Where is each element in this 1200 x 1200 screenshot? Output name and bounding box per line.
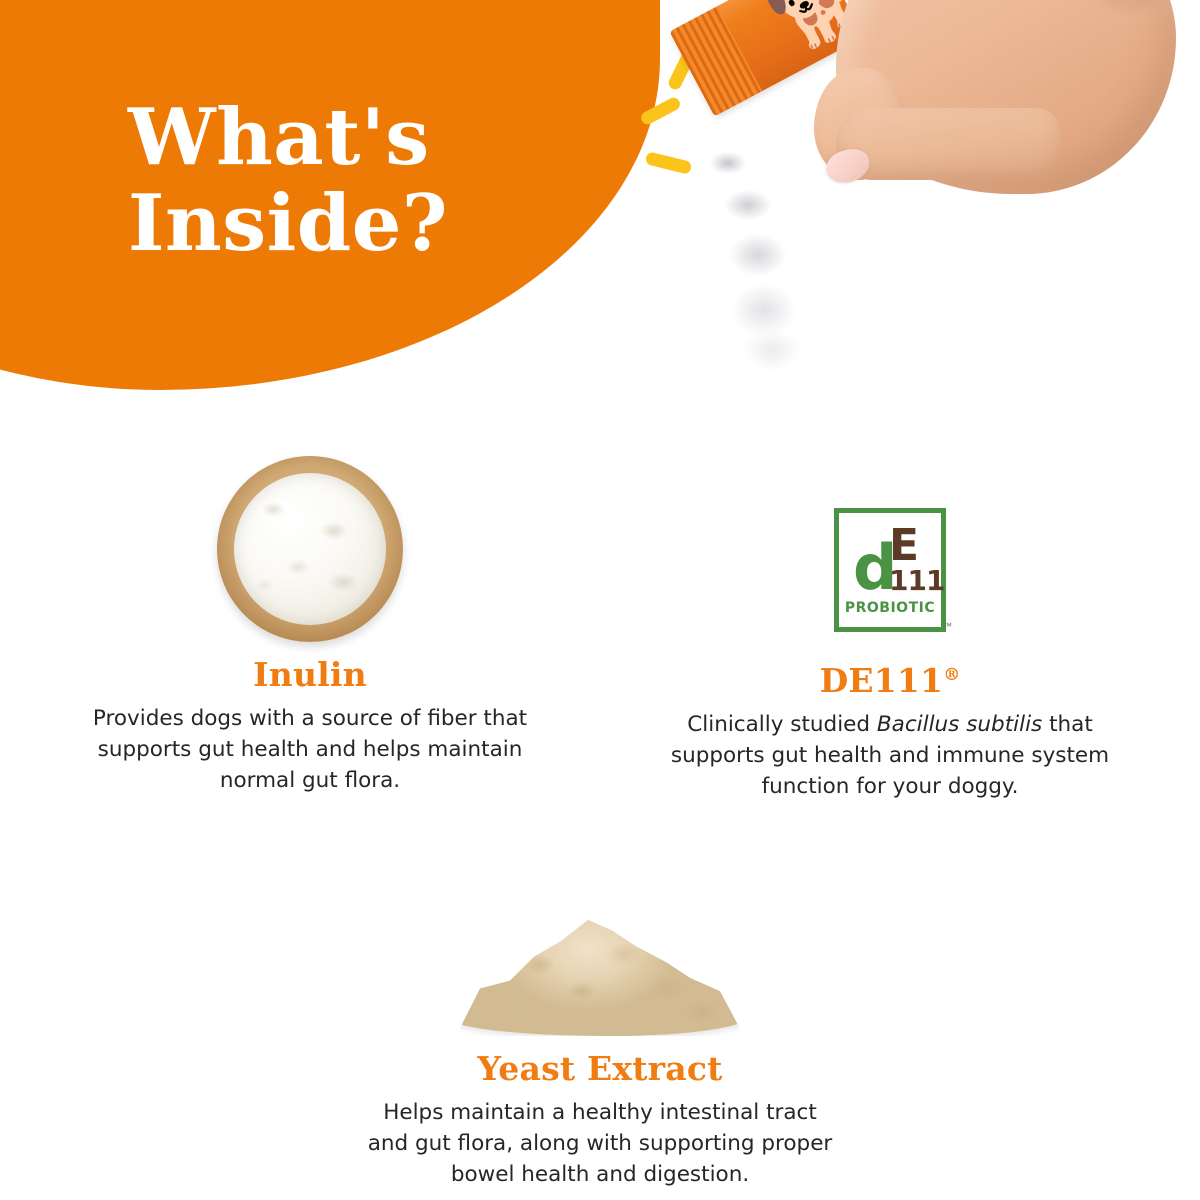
de111-logo-icon: d E 111 PROBIOTIC ™	[834, 508, 946, 632]
powder-mound-texture	[450, 904, 750, 1036]
sparkle-icon	[639, 95, 682, 126]
page-title-line-2: Inside?	[128, 178, 448, 269]
ingredient-card-yeast-extract: Yeast Extract Helps maintain a healthy i…	[310, 826, 890, 1190]
infographic-page: What'sInside? 🐕 Zesty Paws ProbioticPowd…	[0, 0, 1200, 1200]
registered-mark-icon: ®	[943, 665, 960, 685]
ingredient-title-inulin: Inulin	[20, 656, 600, 694]
ingredient-card-de111: d E 111 PROBIOTIC ™ DE111® Clinically st…	[600, 432, 1180, 802]
ingredient-title-de111: DE111®	[600, 656, 1180, 700]
ingredient-description-de111: Clinically studied Bacillus subtilis tha…	[655, 709, 1125, 802]
white-powder	[234, 473, 386, 625]
hand-holding-stick-pack: 🐕 Zesty Paws ProbioticPowder Digestive H…	[640, 0, 1200, 420]
logo-word-probiotic: PROBIOTIC	[839, 600, 941, 616]
species-name: Bacillus subtilis	[877, 712, 1042, 737]
ingredient-art-yeast-extract	[310, 826, 890, 1036]
ingredient-description-inulin: Provides dogs with a source of fiber tha…	[75, 703, 545, 796]
logo-number: 111	[889, 567, 944, 595]
ingredient-art-de111: d E 111 PROBIOTIC ™	[600, 432, 1180, 642]
ingredient-art-inulin	[20, 432, 600, 642]
logo-letter-e: E	[889, 524, 919, 568]
index-finger-shape	[836, 108, 1060, 180]
pouring-powder	[700, 145, 830, 375]
ingredient-description-yeast-extract: Helps maintain a healthy intestinal trac…	[365, 1097, 835, 1190]
ingredient-card-inulin: Inulin Provides dogs with a source of fi…	[20, 432, 600, 796]
page-title-line-1: What's	[128, 92, 430, 183]
ingredient-title-yeast-extract: Yeast Extract	[310, 1050, 890, 1088]
trademark-icon: ™	[943, 621, 952, 631]
knuckle-shadow	[1098, 0, 1160, 10]
wooden-bowl-icon	[217, 456, 403, 642]
page-title: What'sInside?	[128, 95, 448, 267]
product-shot: 🐕 Zesty Paws ProbioticPowder Digestive H…	[640, 0, 1200, 420]
sparkle-icon	[645, 151, 693, 175]
powder-mound-icon	[450, 886, 750, 1036]
